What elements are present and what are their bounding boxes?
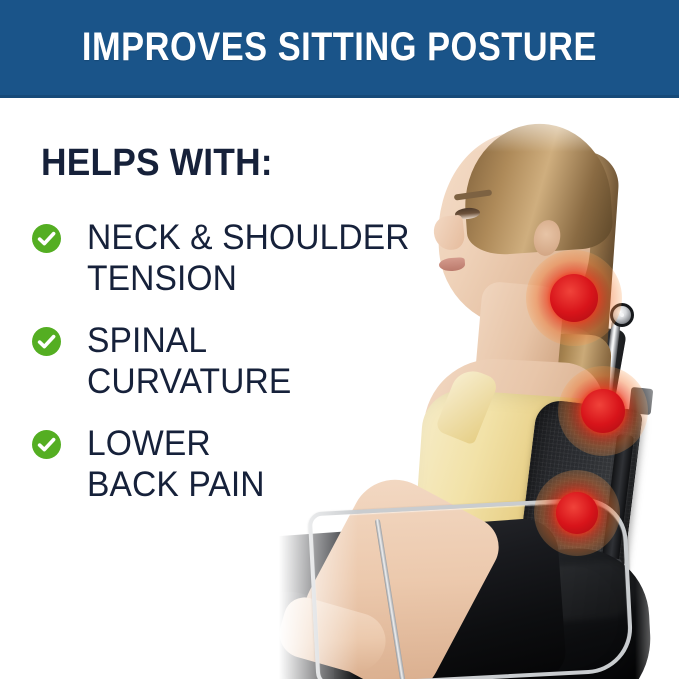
check-circle-icon <box>32 327 61 356</box>
list-item: NECK & SHOULDER TENSION <box>32 218 452 299</box>
product-feature-poster: IMPROVES SITTING POSTURE <box>0 0 679 679</box>
banner-title: IMPROVES SITTING POSTURE <box>82 27 597 67</box>
benefit-label: SPINAL CURVATURE <box>87 321 437 402</box>
check-circle-icon <box>32 430 61 459</box>
list-item: SPINAL CURVATURE <box>32 321 452 402</box>
benefit-list: NECK & SHOULDER TENSION SPINAL CURVATURE… <box>32 218 452 528</box>
photo-top-fade <box>238 98 679 152</box>
list-item: LOWER BACK PAIN <box>32 424 452 505</box>
header-banner: IMPROVES SITTING POSTURE <box>0 0 679 98</box>
page-title: HELPS WITH: <box>41 144 273 182</box>
check-circle-icon <box>32 224 61 253</box>
pain-point-lower-back <box>556 492 598 534</box>
pain-point-mid-back <box>581 389 625 433</box>
benefit-label: LOWER BACK PAIN <box>87 424 437 505</box>
benefit-label: NECK & SHOULDER TENSION <box>87 218 437 299</box>
pain-point-neck-shoulder <box>550 274 598 322</box>
